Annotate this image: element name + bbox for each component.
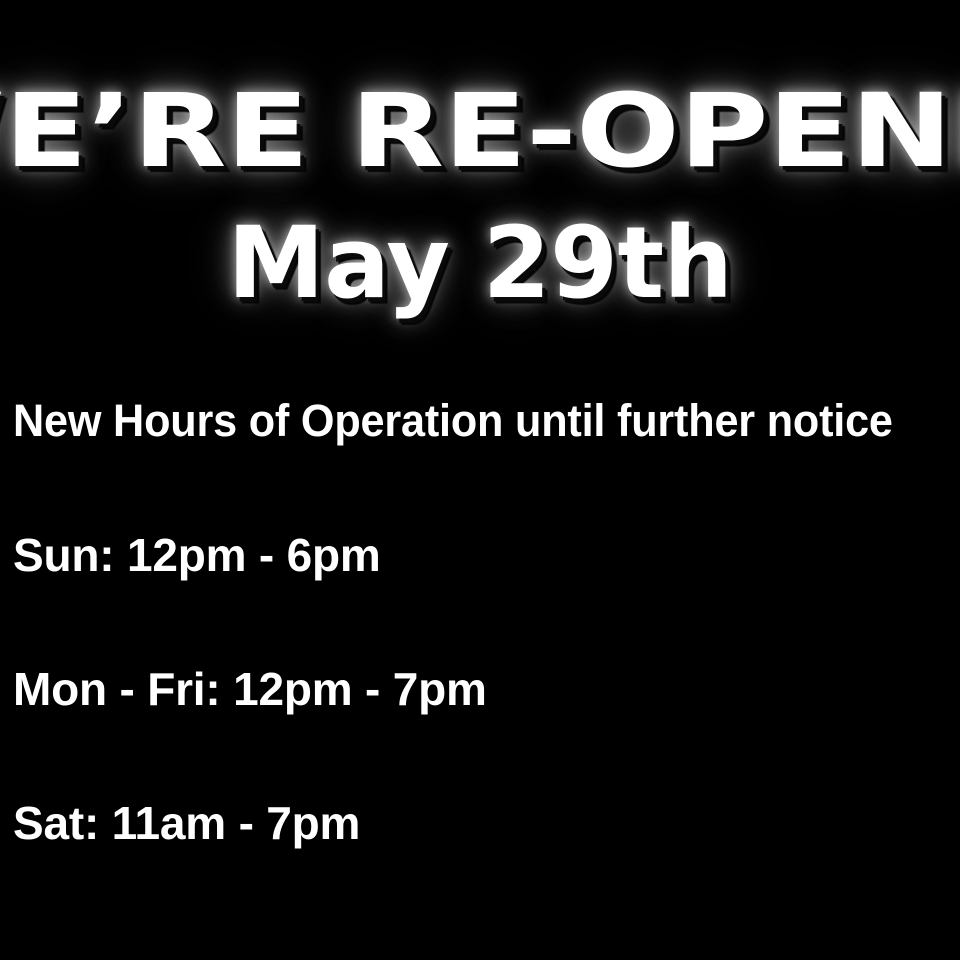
- headline-were-reopening: WE’RE RE-OPENING!: [0, 80, 960, 186]
- hours-row-monday-friday: Mon - Fri: 12pm - 7pm: [13, 666, 487, 712]
- hours-row-sunday: Sun: 12pm - 6pm: [13, 532, 381, 578]
- reopening-announcement-poster: WE’RE RE-OPENING! May 29th New Hours of …: [0, 0, 960, 960]
- hours-row-saturday: Sat: 11am - 7pm: [13, 800, 360, 846]
- hours-notice-text: New Hours of Operation until further not…: [13, 398, 893, 443]
- subheadline-reopening-date: May 29th: [0, 214, 960, 326]
